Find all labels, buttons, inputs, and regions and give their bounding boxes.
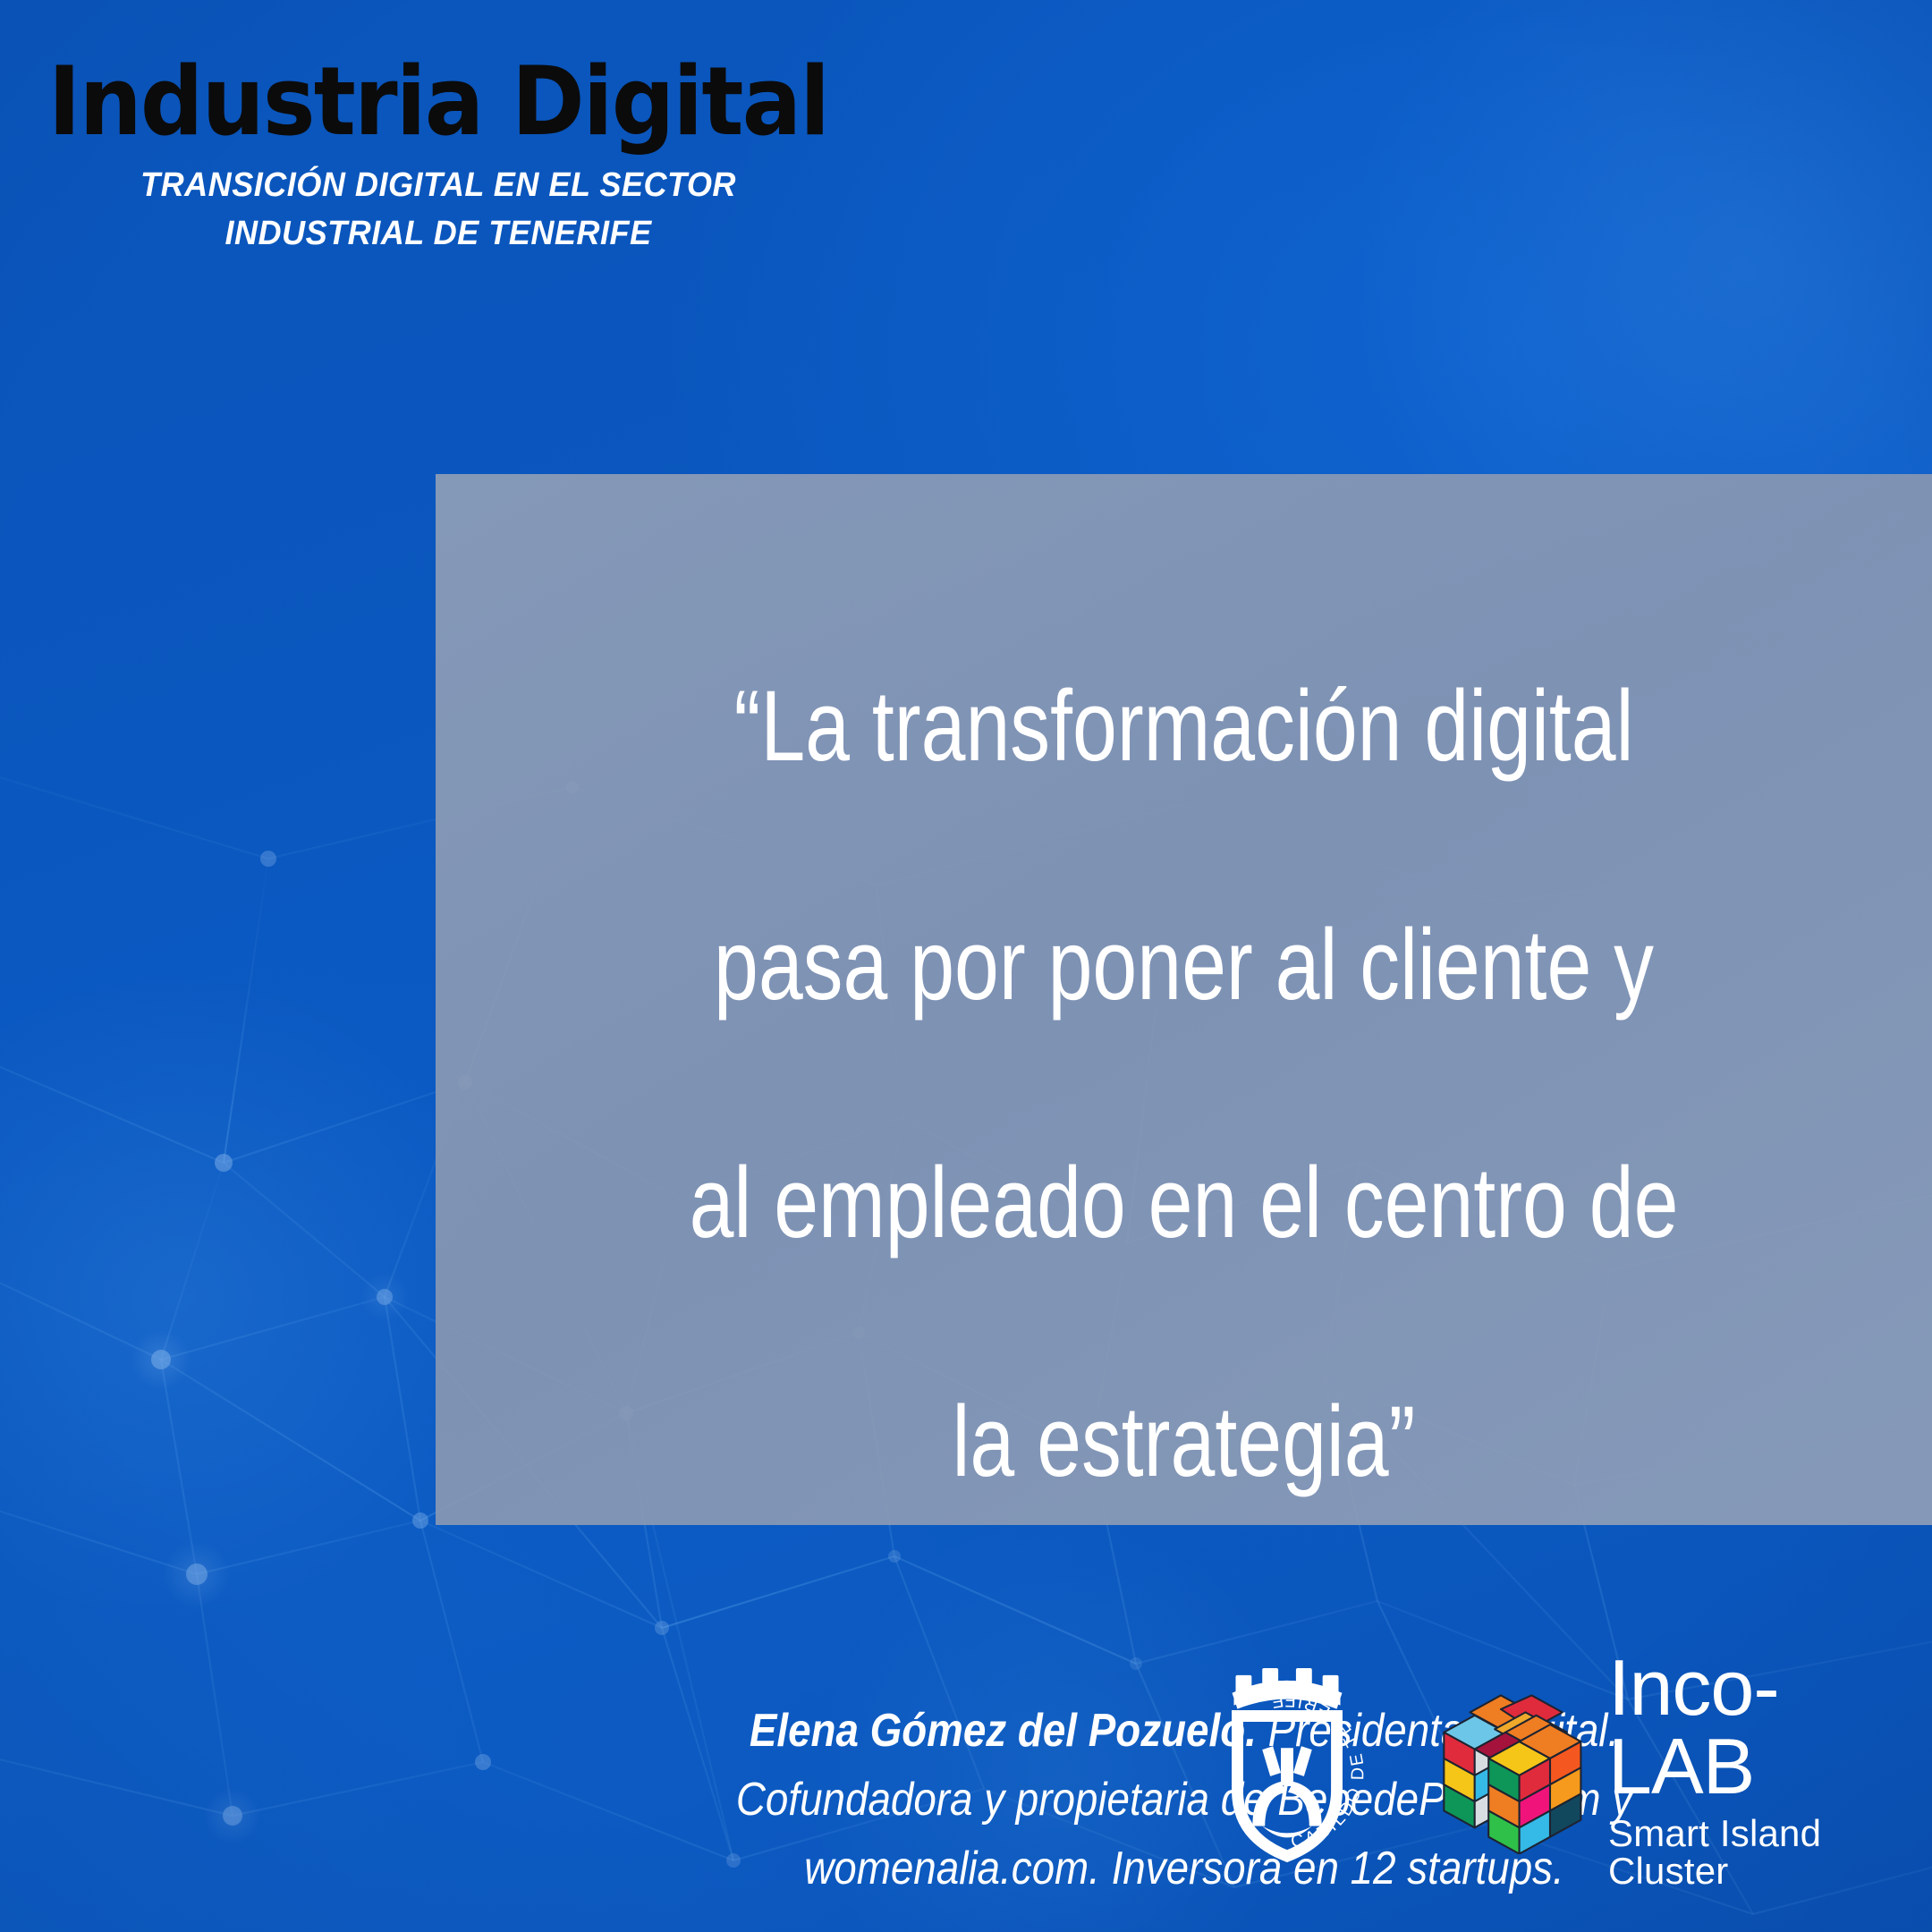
quote-panel: “La transformación digital pasa por pone… bbox=[436, 474, 1932, 1525]
incolab-wordmark: Inco-LAB Smart Island Cluster bbox=[1608, 1648, 1896, 1890]
quote-line-3: al empleado en el centro de bbox=[646, 1143, 1723, 1262]
incolab-name: Inco-LAB bbox=[1608, 1648, 1896, 1806]
incolab-logo: Inco-LAB Smart Island Cluster bbox=[1435, 1648, 1896, 1890]
cabildo-de-tenerife-logo: CABILDO DE TENERIFE bbox=[1181, 1657, 1394, 1882]
poster-canvas: Industria Digital TRANSICIÓN DIGITAL EN … bbox=[0, 0, 1932, 1932]
page-subtitle: TRANSICIÓN DIGITAL EN EL SECTOR INDUSTRI… bbox=[22, 162, 855, 258]
subtitle-line-2: INDUSTRIAL DE TENERIFE bbox=[22, 210, 855, 258]
quote-text: “La transformación digital pasa por pone… bbox=[646, 547, 1723, 1620]
quote-line-1: “La transformación digital bbox=[646, 666, 1723, 785]
header-block: Industria Digital TRANSICIÓN DIGITAL EN … bbox=[0, 52, 877, 258]
subtitle-line-1: TRANSICIÓN DIGITAL EN EL SECTOR bbox=[22, 162, 855, 210]
incolab-tagline: Smart Island Cluster bbox=[1608, 1815, 1896, 1890]
quote-line-2: pasa por poner al cliente y bbox=[646, 905, 1723, 1024]
footer-logos: CABILDO DE TENERIFE bbox=[1181, 1653, 1896, 1885]
isometric-cube-icon bbox=[1435, 1684, 1589, 1854]
quote-line-4: la estrategia” bbox=[646, 1382, 1723, 1501]
page-title: Industria Digital bbox=[30, 52, 845, 151]
